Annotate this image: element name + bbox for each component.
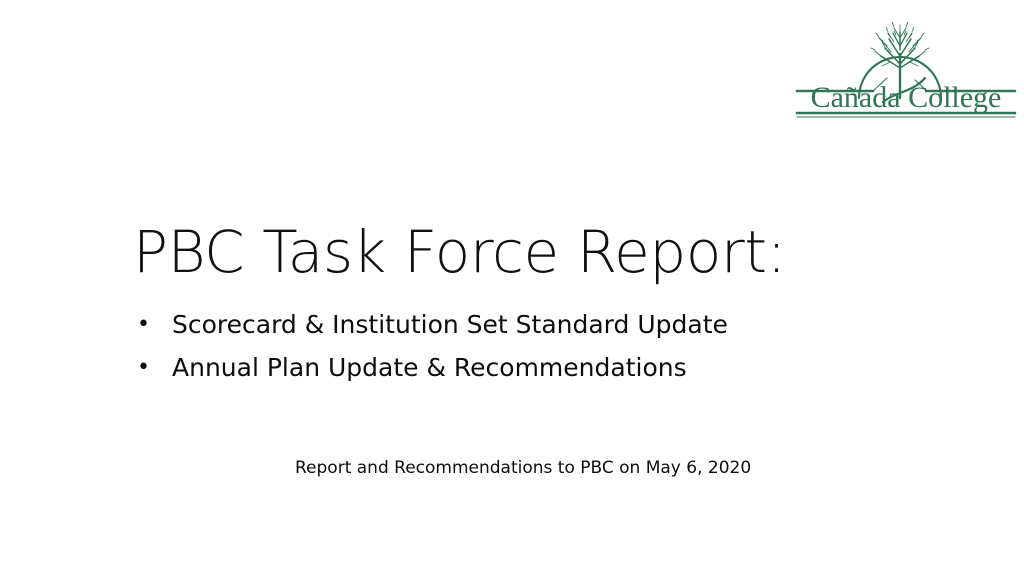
footer-note: Report and Recommendations to PBC on May…: [295, 456, 751, 480]
canada-college-logo: Cañada College: [795, 6, 1017, 118]
bullet-marker-icon: •: [137, 346, 151, 389]
list-item: • Annual Plan Update & Recommendations: [133, 346, 913, 389]
logo-wordmark: Cañada College: [811, 81, 1002, 114]
list-item-label: Scorecard & Institution Set Standard Upd…: [172, 310, 728, 339]
bullet-marker-icon: •: [137, 303, 151, 346]
bullet-list: • Scorecard & Institution Set Standard U…: [133, 303, 913, 389]
canada-college-logo-graphic: Cañada College: [795, 6, 1017, 118]
presentation-slide: Cañada College PBC Task Force Report: • …: [0, 0, 1024, 576]
list-item-label: Annual Plan Update & Recommendations: [172, 353, 687, 382]
list-item: • Scorecard & Institution Set Standard U…: [133, 303, 913, 346]
page-title: PBC Task Force Report:: [133, 219, 933, 285]
